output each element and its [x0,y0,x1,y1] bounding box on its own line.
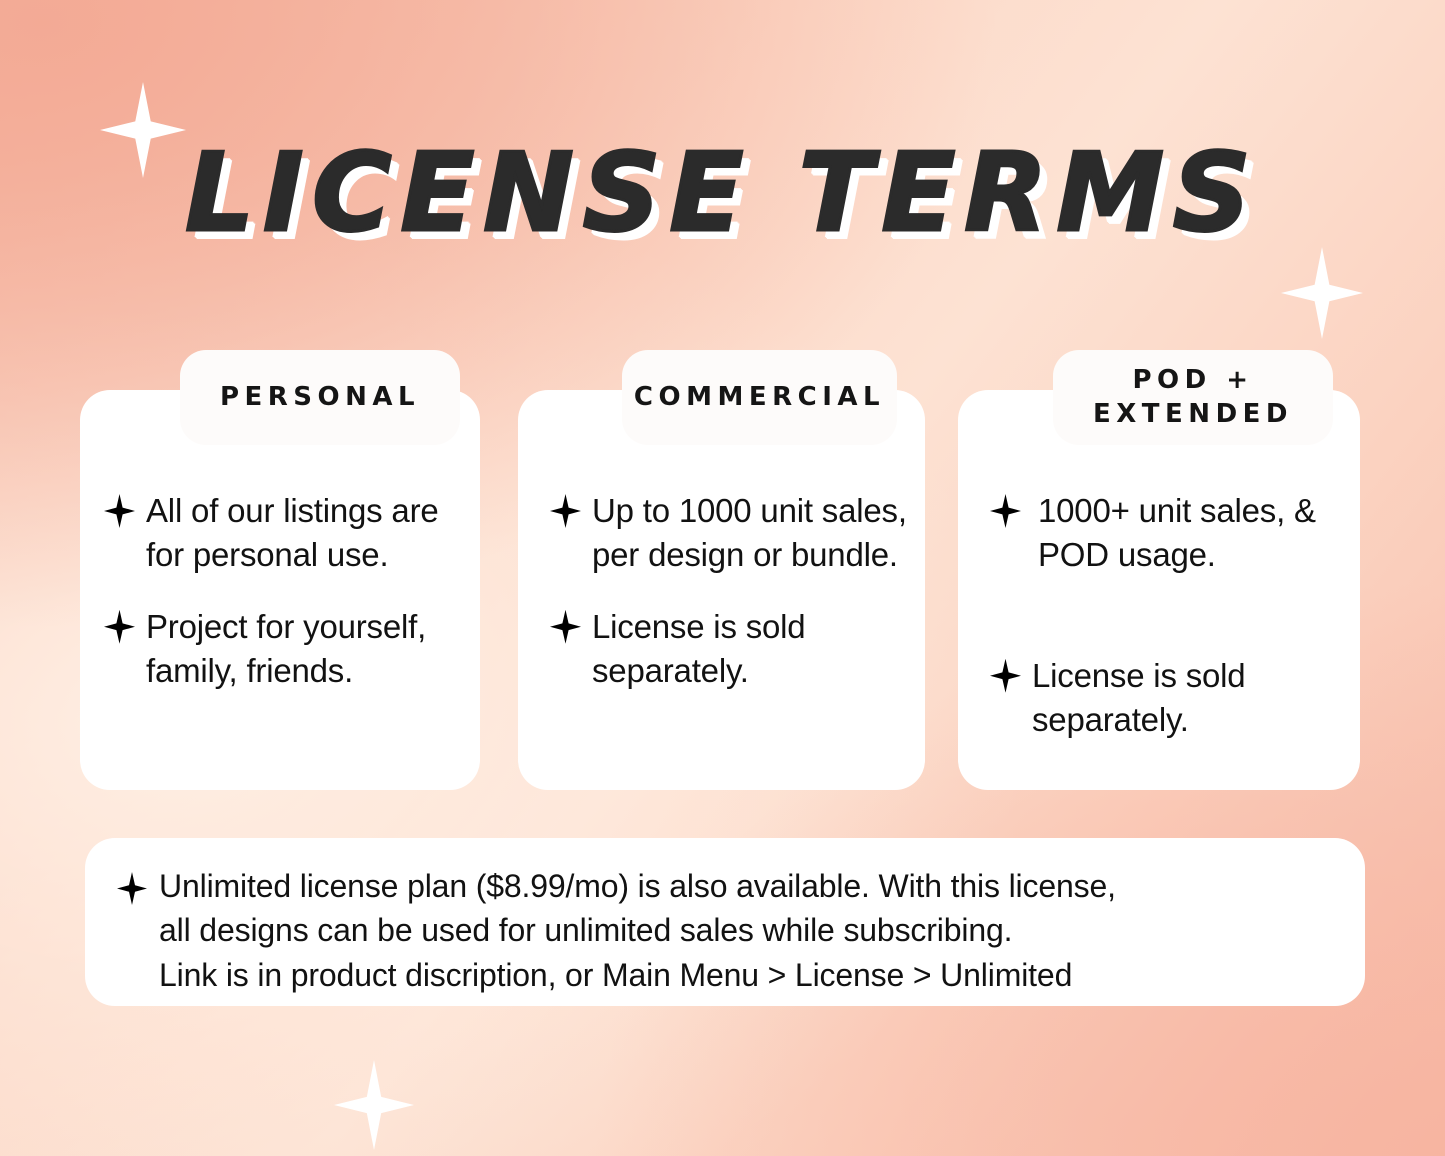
list-item: License is sold separately. [550,605,910,693]
card-tab-label-line-2: EXTENDED [1093,399,1293,429]
list-item: License is sold separately. [990,654,1350,742]
four-point-star-icon [550,610,581,644]
banner-line-1: Unlimited license plan ($8.99/mo) is als… [159,864,1116,908]
card-tab-label-commercial: COMMERCIAL [634,381,885,414]
card-tab-personal[interactable]: PERSONAL [180,350,460,445]
list-item: All of our listings are for personal use… [104,489,484,577]
card-tab-label-line-1: POD + [1132,365,1253,395]
list-item-text: Project for yourself, family, friends. [146,605,484,693]
license-terms-poster: LICENSE TERMS PERSONAL All of our listin… [0,0,1445,1156]
four-point-star-icon [990,494,1021,528]
list-item-text: All of our listings are for personal use… [146,489,484,577]
banner-line-2: all designs can be used for unlimited sa… [159,908,1116,952]
list-item: Project for yourself, family, friends. [104,605,484,693]
bullet-list-personal: All of our listings are for personal use… [104,489,484,693]
list-item-text: 1000+ unit sales, & POD usage. [1038,489,1350,577]
card-tab-commercial[interactable]: COMMERCIAL [622,350,897,445]
four-point-star-icon [104,494,135,528]
list-item: 1000+ unit sales, & POD usage. [990,489,1350,577]
four-point-star-icon [117,872,147,905]
four-point-star-icon [990,659,1021,693]
banner-line-3: Link is in product discription, or Main … [159,953,1116,997]
bullet-list-commercial: Up to 1000 unit sales, per design or bun… [550,489,910,693]
list-item: Up to 1000 unit sales, per design or bun… [550,489,910,577]
list-item-text: License is sold separately. [592,605,910,693]
list-item-text: License is sold separately. [1032,654,1350,742]
unlimited-plan-banner-content: Unlimited license plan ($8.99/mo) is als… [117,864,1343,997]
four-point-star-icon [550,494,581,528]
card-tab-label-pod-extended: POD + EXTENDED [1093,364,1293,431]
unlimited-plan-banner: Unlimited license plan ($8.99/mo) is als… [85,838,1365,1006]
card-tab-label-personal: PERSONAL [220,381,420,414]
bullet-list-pod-extended: 1000+ unit sales, & POD usage. License i… [990,489,1350,742]
card-tab-pod-extended[interactable]: POD + EXTENDED [1053,350,1333,445]
four-point-star-icon [104,610,135,644]
unlimited-plan-banner-text: Unlimited license plan ($8.99/mo) is als… [159,864,1116,997]
list-item-text: Up to 1000 unit sales, per design or bun… [592,489,910,577]
